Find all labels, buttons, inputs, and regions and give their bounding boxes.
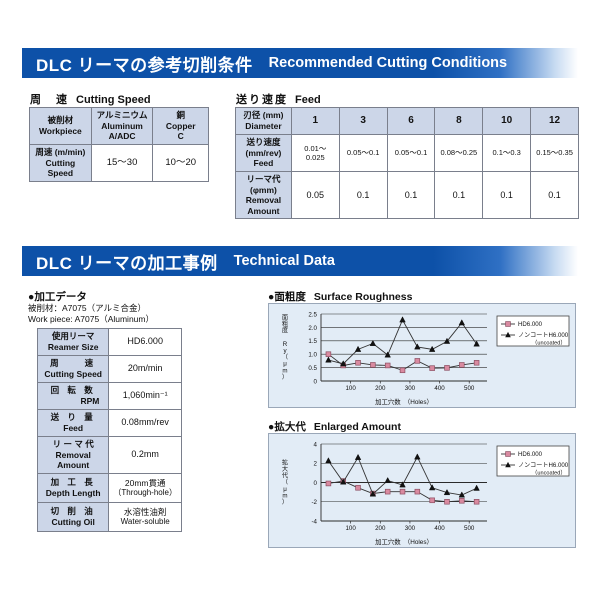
cutting-speed-caption-en: Cutting Speed xyxy=(76,94,151,106)
data-point-marker xyxy=(370,363,375,368)
cell-feed-value-1: 0.01〜0.025 xyxy=(291,135,339,172)
cell-diameter-10: 10 xyxy=(483,108,531,135)
data-point-marker xyxy=(326,357,332,362)
cell-text-en: Reamer Size xyxy=(41,342,105,353)
cutting-speed-caption-jp: 周 速 xyxy=(30,94,69,106)
y-axis-tick-label: 0.5 xyxy=(308,365,317,372)
table-row: 刃径 (mm) Diameter 1 3 6 8 10 12 xyxy=(236,108,579,135)
data-point-marker xyxy=(355,454,361,459)
cell-workpiece-header: 被削材 Workpiece xyxy=(30,108,92,145)
table-row: 周速 (m/min) Cutting Speed 15〜30 10〜20 xyxy=(30,145,209,182)
x-axis-tick-label: 300 xyxy=(405,525,416,532)
cell-text-en: RPM xyxy=(41,396,105,407)
data-point-marker xyxy=(415,454,421,459)
cell-feed-value: 0.08mm/rev xyxy=(109,410,182,437)
legend-label-sub: （uncoated） xyxy=(532,469,566,476)
chart-enlarged-amount: -4-2024100200300400500加工穴数 （Holes）拡大代（μm… xyxy=(268,433,576,548)
cell-depth-length-label: 加 工 長 Depth Length xyxy=(38,473,109,502)
x-axis-tick-label: 500 xyxy=(464,525,475,532)
cell-removal-amount-label: リ ー マ 代 Removal Amount xyxy=(38,437,109,474)
x-axis-tick-label: 200 xyxy=(375,385,386,392)
cell-removal-label: リーマ代 (φmm) Removal Amount xyxy=(236,171,292,219)
series-line-1 xyxy=(328,320,476,364)
process-data-title: ●加工データ xyxy=(28,289,87,304)
cell-cutting-speed-label: 周速 (m/min) Cutting Speed xyxy=(30,145,92,182)
y-axis-tick-label: -2 xyxy=(311,499,317,506)
feed-table: 刃径 (mm) Diameter 1 3 6 8 10 12 送り速度 (mm/… xyxy=(235,107,579,219)
cell-text-jp: 刃径 (mm) xyxy=(239,110,288,121)
chart-title-jp: ●面粗度 xyxy=(268,291,306,303)
table-row: 使用リーマ Reamer Size HD6.000 xyxy=(38,329,182,356)
y-axis-tick-label: 4 xyxy=(314,441,318,448)
data-point-marker xyxy=(430,366,435,371)
cell-text-jp: 切 削 油 xyxy=(41,506,105,517)
cell-feed-value-6: 0.05〜0.1 xyxy=(387,135,435,172)
data-point-marker xyxy=(356,485,361,490)
cell-text-unit: (φmm) xyxy=(239,185,288,196)
feed-caption-en: Feed xyxy=(295,94,321,106)
data-point-marker xyxy=(429,485,435,490)
y-axis-label-char: ） xyxy=(282,499,288,506)
banner-title-en: Recommended Cutting Conditions xyxy=(269,55,507,71)
cell-text-en: Cutting Oil xyxy=(41,517,105,528)
x-axis-tick-label: 100 xyxy=(345,385,356,392)
cell-text-jp: リ ー マ 代 xyxy=(41,439,105,450)
cell-diameter-6: 6 xyxy=(387,108,435,135)
legend-symbol-marker xyxy=(506,452,511,457)
cell-text-jp: 銅 xyxy=(156,110,205,121)
cell-removal-value-1: 0.05 xyxy=(291,171,339,219)
cell-feed-value-12: 0.15〜0.35 xyxy=(531,135,579,172)
workpiece-en: Work piece: A7075（Aluminum） xyxy=(28,314,154,325)
cell-text-jp: 周 速 xyxy=(41,358,105,369)
data-point-marker xyxy=(400,368,405,373)
cell-text-en: Aluminum xyxy=(95,121,150,132)
legend-label: HD6.000 xyxy=(518,451,543,458)
chart-title-en: Surface Roughness xyxy=(314,291,413,303)
cell-text-en: Feed xyxy=(41,423,105,434)
cell-reamer-size-label: 使用リーマ Reamer Size xyxy=(38,329,109,356)
cell-feed-label: 送 り 量 Feed xyxy=(38,410,109,437)
data-point-marker xyxy=(459,498,464,503)
legend-label-sub: （uncoated） xyxy=(532,339,566,346)
cell-removal-amount-value: 0.2mm xyxy=(109,437,182,474)
cell-text-jp: アルミニウム xyxy=(95,110,150,121)
cell-copper-value: 10〜20 xyxy=(153,145,209,182)
data-point-marker xyxy=(400,317,406,322)
cell-value-jp: 水溶性油剤 xyxy=(112,507,178,518)
data-point-marker xyxy=(370,340,376,345)
data-point-marker xyxy=(474,499,479,504)
process-data-table: 使用リーマ Reamer Size HD6.000 周 速 Cutting Sp… xyxy=(37,328,182,532)
cell-text-jp: リーマ代 xyxy=(239,174,288,185)
cell-text-sub: C xyxy=(156,131,205,142)
feed-caption: 送り速度Feed xyxy=(236,91,321,107)
cell-removal-value-10: 0.1 xyxy=(483,171,531,219)
cell-text-jp: 周速 (m/min) xyxy=(33,147,88,158)
cell-feed-value-10: 0.1〜0.3 xyxy=(483,135,531,172)
cell-cutting-speed-label: 周 速 Cutting Speed xyxy=(38,356,109,383)
cell-cutting-oil-value: 水溶性油剤 Water-soluble xyxy=(109,502,182,531)
y-axis-label-char: ） xyxy=(282,374,288,381)
data-point-marker xyxy=(415,344,421,349)
data-point-marker xyxy=(474,485,480,490)
data-point-marker xyxy=(326,481,331,486)
cell-rpm-value: 1,060min⁻¹ xyxy=(109,383,182,410)
y-axis-label-char: 度 xyxy=(282,327,288,335)
data-point-marker xyxy=(385,363,390,368)
y-axis-tick-label: 2.0 xyxy=(308,325,317,332)
cell-text-en: Depth Length xyxy=(41,488,105,499)
legend-label: ノンコートH6.000 xyxy=(518,332,569,339)
data-point-marker xyxy=(445,499,450,504)
chart-title-jp: ●拡大代 xyxy=(268,421,306,433)
cell-cutting-speed-value: 20m/min xyxy=(109,356,182,383)
cell-text-en: Copper xyxy=(156,121,205,132)
x-axis-tick-label: 500 xyxy=(464,385,475,392)
y-axis-tick-label: 1.5 xyxy=(308,338,317,345)
cell-feed-label: 送り速度 (mm/rev) Feed xyxy=(236,135,292,172)
cell-removal-value-8: 0.1 xyxy=(435,171,483,219)
legend-symbol-marker xyxy=(506,322,511,327)
cell-feed-value-8: 0.08〜0.25 xyxy=(435,135,483,172)
data-point-marker xyxy=(430,498,435,503)
cell-text-en: Removal Amount xyxy=(41,450,105,471)
banner-title-en: Technical Data xyxy=(234,253,335,269)
table-row: 送 り 量 Feed 0.08mm/rev xyxy=(38,410,182,437)
data-point-marker xyxy=(356,360,361,365)
cell-text-en2: Amount xyxy=(239,206,288,217)
cell-text-jp: 送り速度 xyxy=(239,137,288,148)
x-axis-label: 加工穴数 （Holes） xyxy=(375,397,433,406)
cell-text-en: Workpiece xyxy=(33,126,88,137)
section-banner-cutting-conditions: DLC リーマの参考切削条件 Recommended Cutting Condi… xyxy=(22,48,578,78)
y-axis-tick-label: 2 xyxy=(314,461,318,468)
cell-removal-value-12: 0.1 xyxy=(531,171,579,219)
table-row: リ ー マ 代 Removal Amount 0.2mm xyxy=(38,437,182,474)
x-axis-tick-label: 400 xyxy=(434,385,445,392)
x-axis-label: 加工穴数 （Holes） xyxy=(375,537,433,546)
cell-removal-value-6: 0.1 xyxy=(387,171,435,219)
legend-label: ノンコートH6.000 xyxy=(518,462,569,469)
chart-title-enlarged-amount: ●拡大代Enlarged Amount xyxy=(268,419,401,434)
chart-plot-surface-roughness: 00.51.01.52.02.5100200300400500加工穴数 （Hol… xyxy=(269,304,575,407)
data-point-marker xyxy=(415,489,420,494)
data-point-marker xyxy=(326,458,332,463)
cell-copper-header: 銅 Copper C xyxy=(153,108,209,145)
banner-title-jp: DLC リーマの参考切削条件 xyxy=(36,51,253,76)
cell-text-jp: 送 り 量 xyxy=(41,412,105,423)
chart-surface-roughness: 00.51.01.52.02.5100200300400500加工穴数 （Hol… xyxy=(268,303,576,408)
y-axis-tick-label: 0 xyxy=(314,378,318,385)
cell-text-jp: 被削材 xyxy=(33,115,88,126)
cell-diameter-header: 刃径 (mm) Diameter xyxy=(236,108,292,135)
cell-text-unit: (mm/rev) xyxy=(239,148,288,159)
x-axis-tick-label: 300 xyxy=(405,385,416,392)
cell-diameter-3: 3 xyxy=(339,108,387,135)
banner-title-jp: DLC リーマの加工事例 xyxy=(36,249,218,274)
cell-text-en: Cutting Speed xyxy=(33,158,88,179)
data-point-marker xyxy=(459,320,465,325)
data-point-marker xyxy=(385,489,390,494)
table-row: 周 速 Cutting Speed 20m/min xyxy=(38,356,182,383)
section-banner-technical-data: DLC リーマの加工事例 Technical Data xyxy=(22,246,578,276)
cell-text-en: Feed xyxy=(239,158,288,169)
y-axis-tick-label: 0 xyxy=(314,480,318,487)
cell-diameter-12: 12 xyxy=(531,108,579,135)
data-point-marker xyxy=(385,477,391,482)
cell-text-en: Cutting Speed xyxy=(41,369,105,380)
cell-feed-value-3: 0.05〜0.1 xyxy=(339,135,387,172)
cell-aluminum-value: 15〜30 xyxy=(91,145,153,182)
data-point-marker xyxy=(474,360,479,365)
cutting-speed-table: 被削材 Workpiece アルミニウム Aluminum A/ADC 銅 Co… xyxy=(29,107,209,182)
cell-value-en: （Through-hole） xyxy=(112,488,178,498)
data-point-marker xyxy=(385,352,391,357)
cell-diameter-8: 8 xyxy=(435,108,483,135)
x-axis-tick-label: 100 xyxy=(345,525,356,532)
legend-label: HD6.000 xyxy=(518,321,543,328)
data-point-marker xyxy=(400,489,405,494)
y-axis-tick-label: 1.0 xyxy=(308,352,317,359)
chart-title-en: Enlarged Amount xyxy=(314,421,401,433)
chart-plot-enlarged-amount: -4-2024100200300400500加工穴数 （Holes）拡大代（μm… xyxy=(269,434,575,547)
table-row: 切 削 油 Cutting Oil 水溶性油剤 Water-soluble xyxy=(38,502,182,531)
cell-diameter-1: 1 xyxy=(291,108,339,135)
table-row: 送り速度 (mm/rev) Feed 0.01〜0.025 0.05〜0.1 0… xyxy=(236,135,579,172)
x-axis-tick-label: 400 xyxy=(434,525,445,532)
cell-text-sub: A/ADC xyxy=(95,131,150,142)
cell-cutting-oil-label: 切 削 油 Cutting Oil xyxy=(38,502,109,531)
data-point-marker xyxy=(415,359,420,364)
cell-text-jp: 使用リーマ xyxy=(41,331,105,342)
feed-caption-jp: 送り速度 xyxy=(236,94,288,106)
cell-text-en: Diameter xyxy=(239,121,288,132)
data-point-marker xyxy=(445,365,450,370)
chart-title-surface-roughness: ●面粗度Surface Roughness xyxy=(268,289,412,304)
data-point-marker xyxy=(326,352,331,357)
cell-text-jp: 加 工 長 xyxy=(41,477,105,488)
table-row: 回 転 数 RPM 1,060min⁻¹ xyxy=(38,383,182,410)
x-axis-tick-label: 200 xyxy=(375,525,386,532)
cell-text-en: Removal xyxy=(239,195,288,206)
table-row: 加 工 長 Depth Length 20mm貫通 （Through-hole） xyxy=(38,473,182,502)
data-point-marker xyxy=(459,363,464,368)
cutting-speed-caption: 周 速Cutting Speed xyxy=(30,91,151,107)
table-row: 被削材 Workpiece アルミニウム Aluminum A/ADC 銅 Co… xyxy=(30,108,209,145)
cell-rpm-label: 回 転 数 RPM xyxy=(38,383,109,410)
cell-text-jp: 回 転 数 xyxy=(41,385,105,396)
cell-value-en: Water-soluble xyxy=(112,517,178,527)
table-row: リーマ代 (φmm) Removal Amount 0.05 0.1 0.1 0… xyxy=(236,171,579,219)
cell-removal-value-3: 0.1 xyxy=(339,171,387,219)
cell-reamer-size-value: HD6.000 xyxy=(109,329,182,356)
workpiece-jp: 被削材：A7075（アルミ合金） xyxy=(28,303,146,314)
document-page: DLC リーマの参考切削条件 Recommended Cutting Condi… xyxy=(0,0,600,600)
cell-aluminum-header: アルミニウム Aluminum A/ADC xyxy=(91,108,153,145)
cell-depth-length-value: 20mm貫通 （Through-hole） xyxy=(109,473,182,502)
y-axis-tick-label: -4 xyxy=(311,518,317,525)
y-axis-tick-label: 2.5 xyxy=(308,311,317,318)
cell-value-jp: 20mm貫通 xyxy=(112,478,178,489)
